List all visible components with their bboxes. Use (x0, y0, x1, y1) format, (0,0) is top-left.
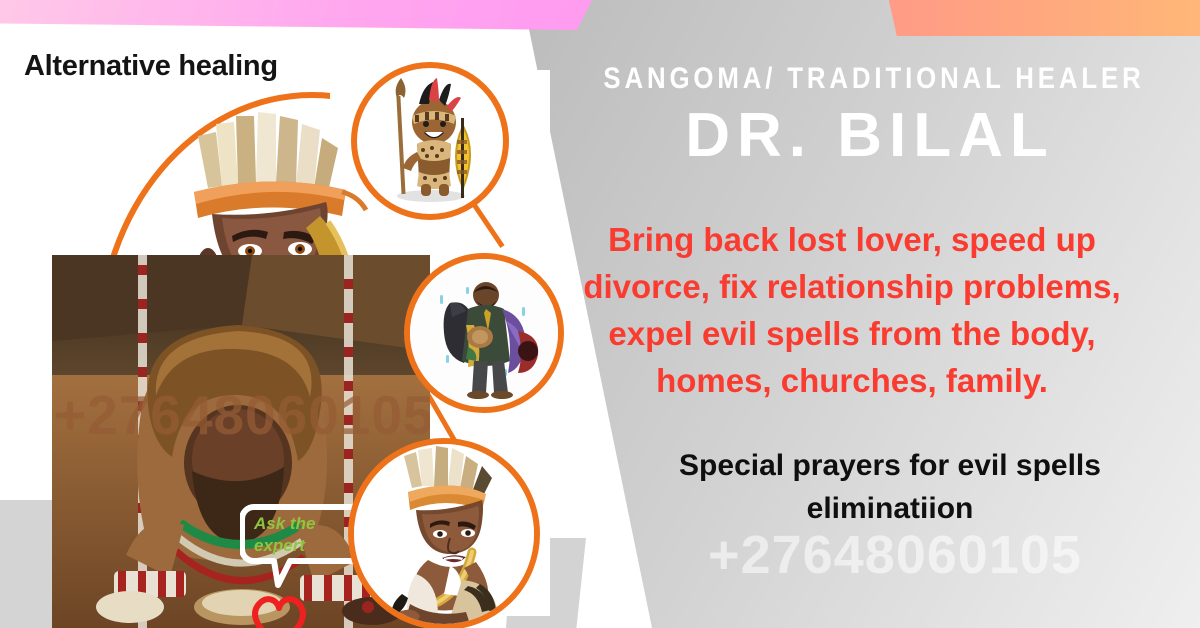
zulu-warrior-cartoon-icon (357, 68, 503, 214)
page-title: Alternative healing (24, 50, 278, 83)
red-heart-outline-icon (248, 593, 310, 628)
healer-name: DR. BILAL (560, 100, 1180, 171)
phone-number-watermark: +27648060105 (600, 524, 1190, 586)
pink-top-bar (0, 0, 592, 30)
special-prayers-text: Special prayers for evil spells eliminat… (600, 444, 1180, 530)
crouching-warrior-icon (354, 444, 534, 624)
circle-crouching-warrior[interactable] (348, 438, 540, 628)
orange-top-bar (884, 0, 1200, 36)
services-text: Bring back lost lover, speed up divorce,… (534, 216, 1170, 404)
kicker-title: SANGOMA/ TRADITIONAL HEALER (603, 62, 1136, 96)
poster-canvas: Alternative healing (0, 0, 1200, 628)
circle-zulu-warrior-cartoon[interactable] (351, 62, 509, 220)
photo-watermark: +27648060105 (54, 383, 430, 447)
gray-left-footer-shape (0, 500, 53, 628)
